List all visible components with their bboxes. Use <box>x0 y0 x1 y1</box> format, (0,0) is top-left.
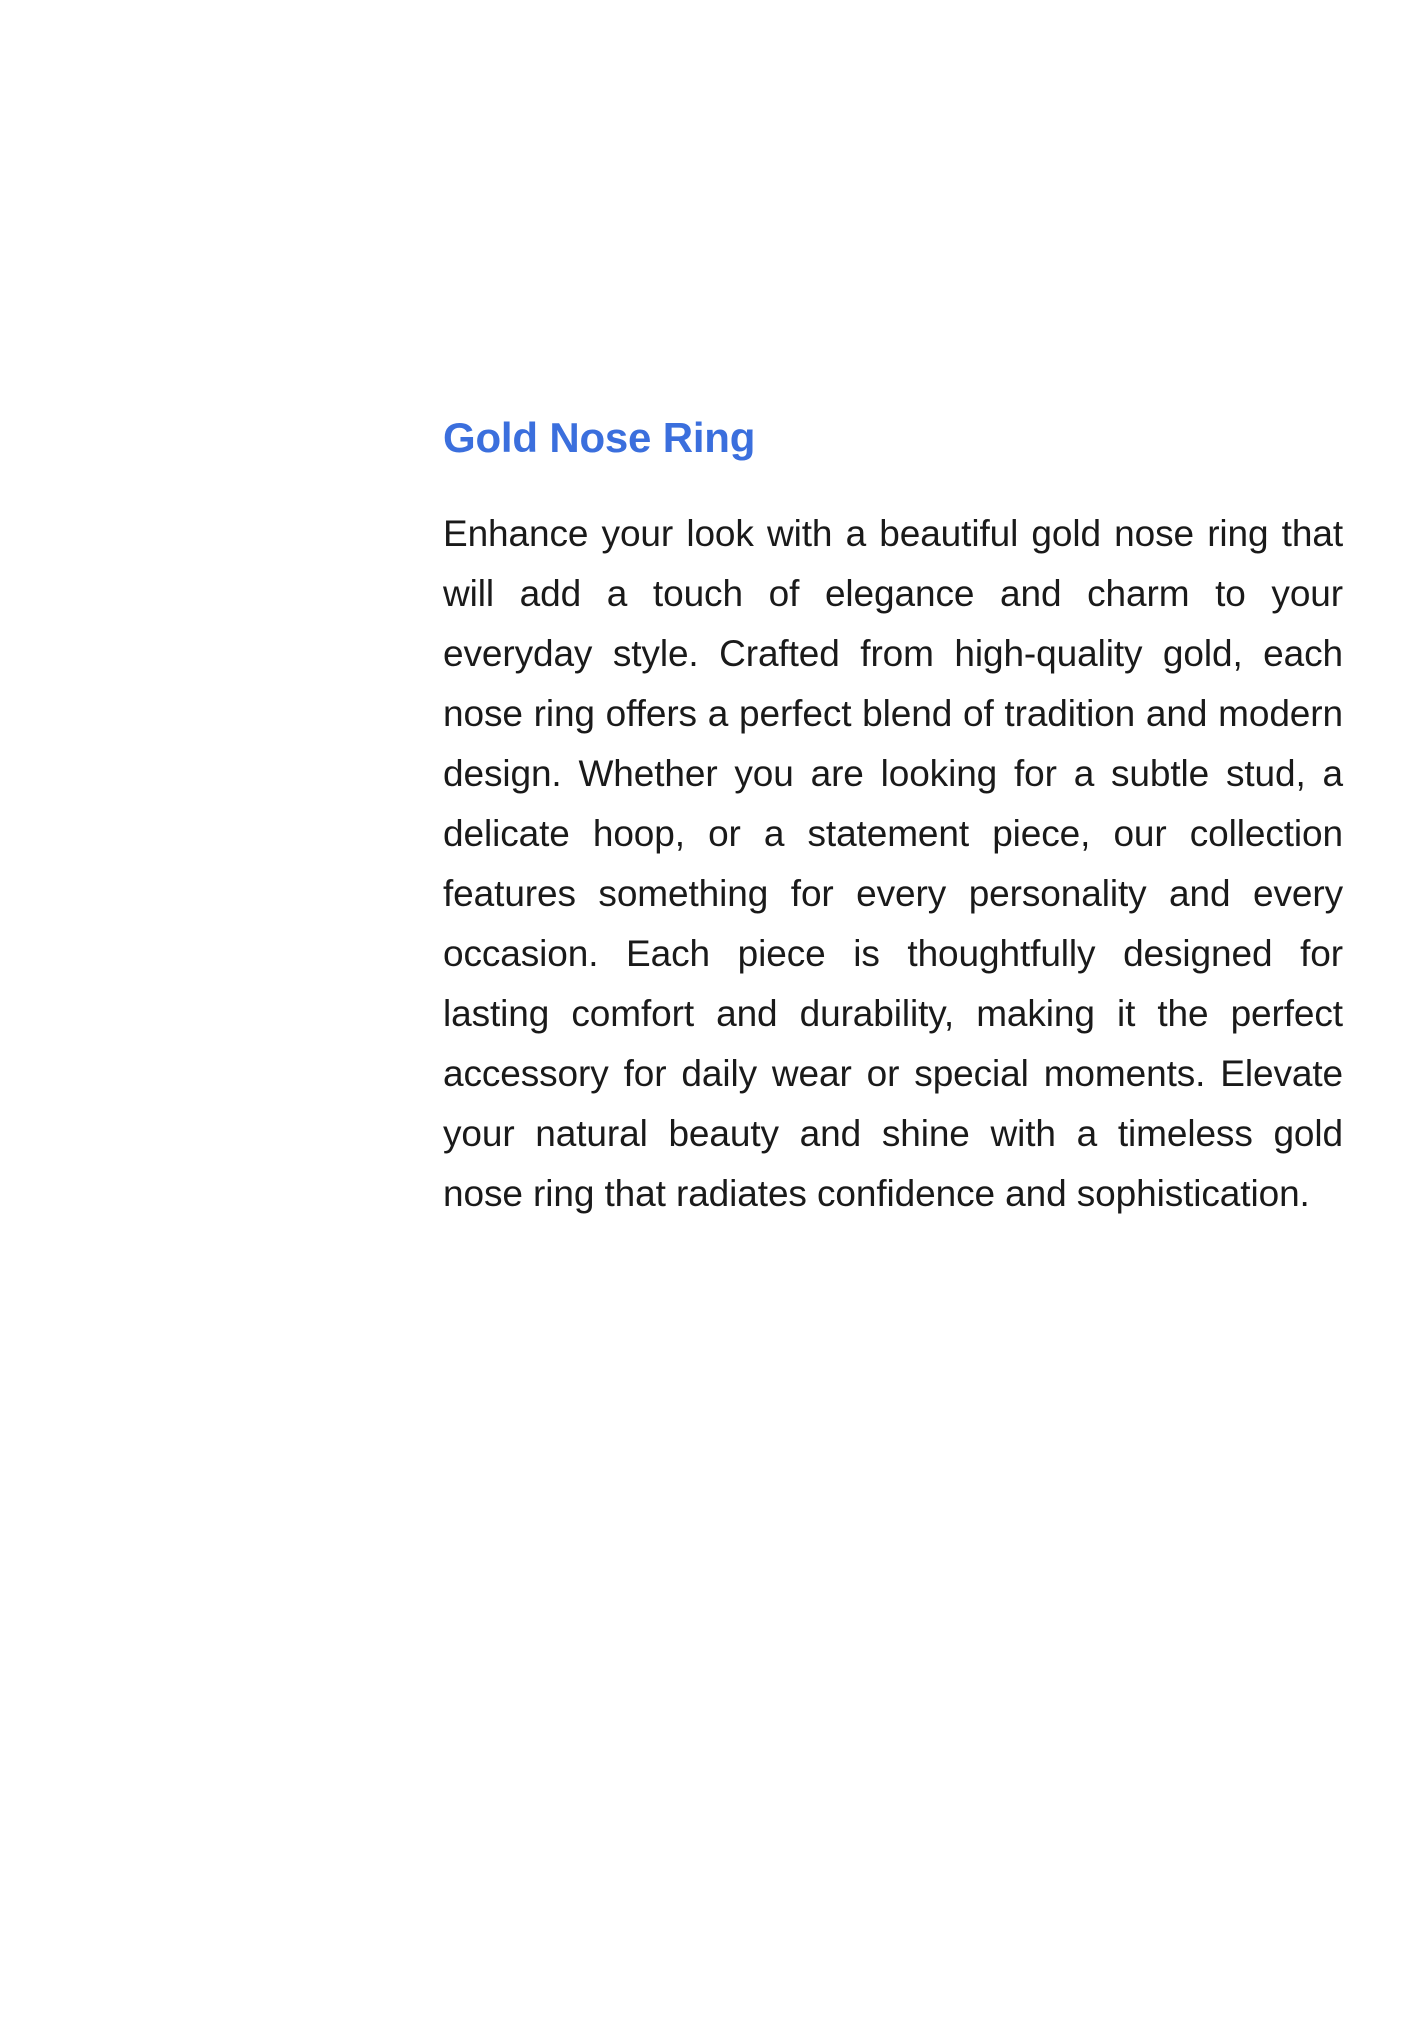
product-description: Enhance your look with a beautiful gold … <box>443 504 1343 1224</box>
product-content-block: Gold Nose Ring Enhance your look with a … <box>443 414 1343 1224</box>
page-canvas: Gold Nose Ring Enhance your look with a … <box>0 0 1428 2018</box>
page-title: Gold Nose Ring <box>443 414 1343 462</box>
